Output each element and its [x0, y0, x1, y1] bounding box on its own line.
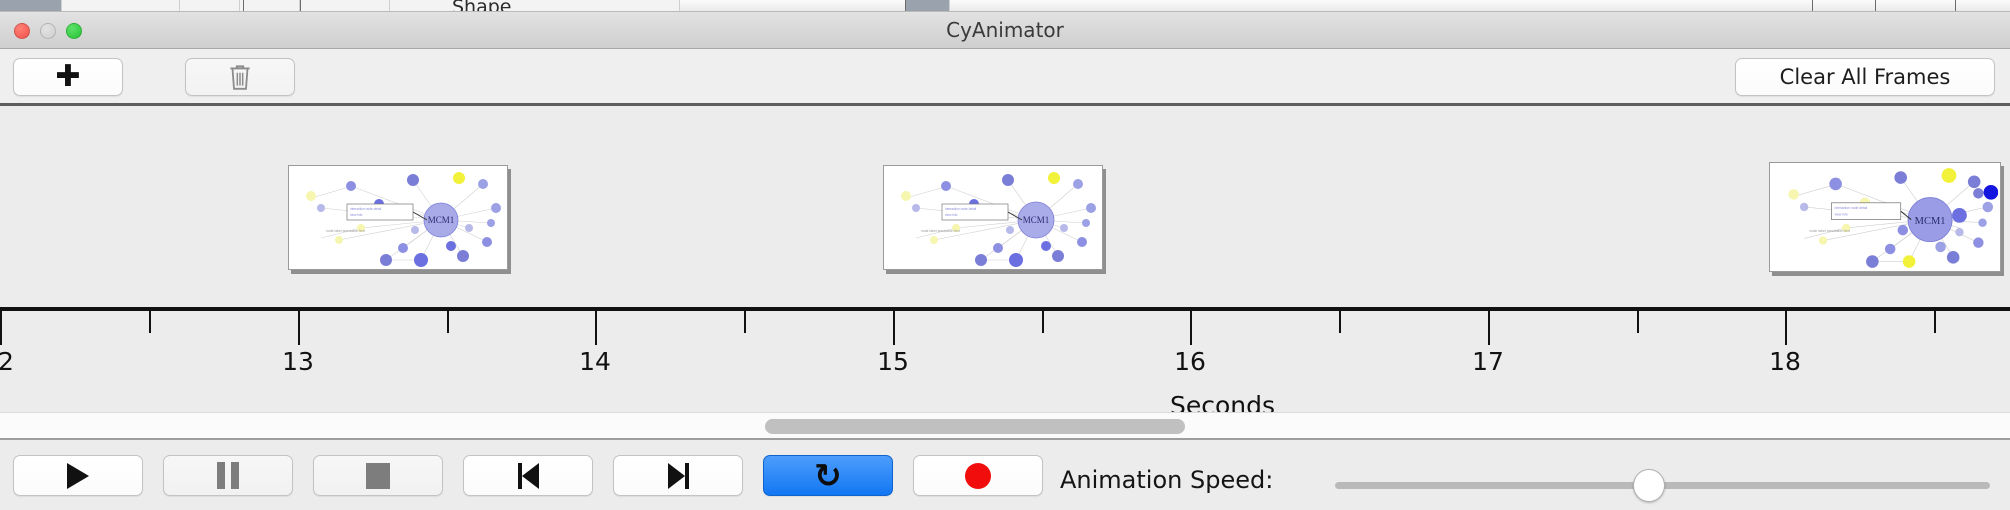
animation-speed-slider-thumb[interactable]	[1633, 469, 1665, 502]
bg-segment	[180, 0, 240, 12]
delete-frame-button[interactable]	[185, 58, 295, 96]
network-graph-svg: interaction node detail view info node l…	[886, 168, 1100, 267]
pause-button[interactable]	[163, 455, 293, 496]
play-icon	[67, 463, 89, 489]
window-title: CyAnimator	[0, 12, 2010, 49]
bg-segment	[300, 0, 390, 12]
network-thumbnail-2: interaction node detail view info node l…	[886, 168, 1100, 267]
network-thumbnail-1: interaction node detail view info node l…	[291, 168, 505, 267]
player-controls: ↻ Animation Speed:	[0, 442, 2010, 510]
background-window-label: Shape	[452, 0, 512, 12]
skip-forward-button[interactable]	[613, 455, 743, 496]
animation-speed-label: Animation Speed:	[1060, 466, 1273, 494]
axis-tick-major	[298, 311, 300, 345]
bg-segment	[62, 0, 180, 12]
bg-tick	[905, 0, 906, 12]
network-graph-svg: interaction node detail view info node l…	[1772, 165, 1998, 269]
svg-text:view info: view info	[350, 213, 363, 217]
scrollbar-thumb[interactable]	[765, 419, 1185, 434]
svg-text:node label annotation text: node label annotation text	[921, 229, 960, 233]
loop-icon: ↻	[814, 459, 842, 492]
svg-text:view info: view info	[1835, 212, 1848, 216]
axis-tick-minor	[1339, 311, 1341, 333]
pause-icon	[217, 462, 239, 489]
axis-label-17: 17	[1472, 347, 1504, 376]
axis-tick-major	[1190, 311, 1192, 345]
play-button[interactable]	[13, 455, 143, 496]
skip-back-icon	[518, 463, 539, 489]
stop-icon	[366, 463, 390, 489]
stop-button[interactable]	[313, 455, 443, 496]
bg-tick	[1812, 0, 1813, 12]
bg-segment	[390, 0, 680, 12]
trash-icon	[227, 62, 253, 92]
svg-text:MCM1: MCM1	[1023, 215, 1050, 225]
clear-all-frames-button[interactable]: Clear All Frames	[1735, 58, 1995, 96]
bg-segment	[905, 0, 950, 12]
skip-forward-icon	[668, 463, 689, 489]
svg-text:MCM1: MCM1	[1915, 216, 1946, 227]
axis-tick-major	[1488, 311, 1490, 345]
record-button[interactable]	[913, 455, 1043, 496]
axis-label-13: 13	[282, 347, 314, 376]
bg-tick	[243, 0, 244, 12]
axis-tick-minor	[1637, 311, 1639, 333]
horizontal-scrollbar[interactable]	[0, 412, 2010, 440]
axis-tick-minor	[1042, 311, 1044, 333]
axis-tick-minor	[447, 311, 449, 333]
timeline-axis	[0, 307, 2010, 311]
loop-button[interactable]: ↻	[763, 455, 893, 496]
svg-text:interaction node detail: interaction node detail	[1835, 206, 1868, 210]
bg-tick	[300, 0, 301, 12]
axis-tick-major	[1785, 311, 1787, 345]
keyframe-thumbnail[interactable]: interaction node detail view info node l…	[1769, 162, 2001, 272]
bg-segment	[240, 0, 300, 12]
toolbar: ✚ Clear All Frames	[0, 49, 2010, 106]
bg-tick	[1875, 0, 1876, 12]
axis-tick-major	[0, 311, 2, 345]
axis-label-14: 14	[579, 347, 611, 376]
title-bar: CyAnimator	[0, 12, 2010, 49]
axis-tick-major	[893, 311, 895, 345]
axis-tick-major	[595, 311, 597, 345]
keyframe-thumbnail[interactable]: interaction node detail view info node l…	[883, 165, 1103, 270]
axis-title: Seconds	[1170, 391, 1275, 412]
network-graph-svg: interaction node detail view info node l…	[291, 168, 505, 267]
timeline-panel[interactable]: interaction node detail view info node l…	[0, 109, 2010, 412]
bg-segment	[0, 0, 62, 12]
axis-label-12: 2	[0, 347, 14, 376]
axis-label-15: 15	[877, 347, 909, 376]
svg-text:view info: view info	[945, 213, 958, 217]
add-frame-button[interactable]: ✚	[13, 58, 123, 96]
svg-text:MCM1: MCM1	[428, 215, 455, 225]
skip-back-button[interactable]	[463, 455, 593, 496]
svg-text:node label annotation text: node label annotation text	[1809, 229, 1850, 233]
record-icon	[965, 463, 991, 489]
bg-tick	[1955, 0, 1956, 12]
keyframe-thumbnail[interactable]: interaction node detail view info node l…	[288, 165, 508, 270]
background-window-strip: Shape	[0, 0, 2010, 12]
axis-label-16: 16	[1174, 347, 1206, 376]
axis-label-18: 18	[1769, 347, 1801, 376]
axis-tick-minor	[1934, 311, 1936, 333]
svg-text:interaction node detail: interaction node detail	[350, 207, 381, 211]
svg-text:node label annotation text: node label annotation text	[326, 229, 365, 233]
svg-text:interaction node detail: interaction node detail	[945, 207, 976, 211]
axis-tick-minor	[744, 311, 746, 333]
plus-icon: ✚	[55, 62, 80, 92]
axis-tick-minor	[149, 311, 151, 333]
network-thumbnail-3: interaction node detail view info node l…	[1772, 165, 1998, 269]
